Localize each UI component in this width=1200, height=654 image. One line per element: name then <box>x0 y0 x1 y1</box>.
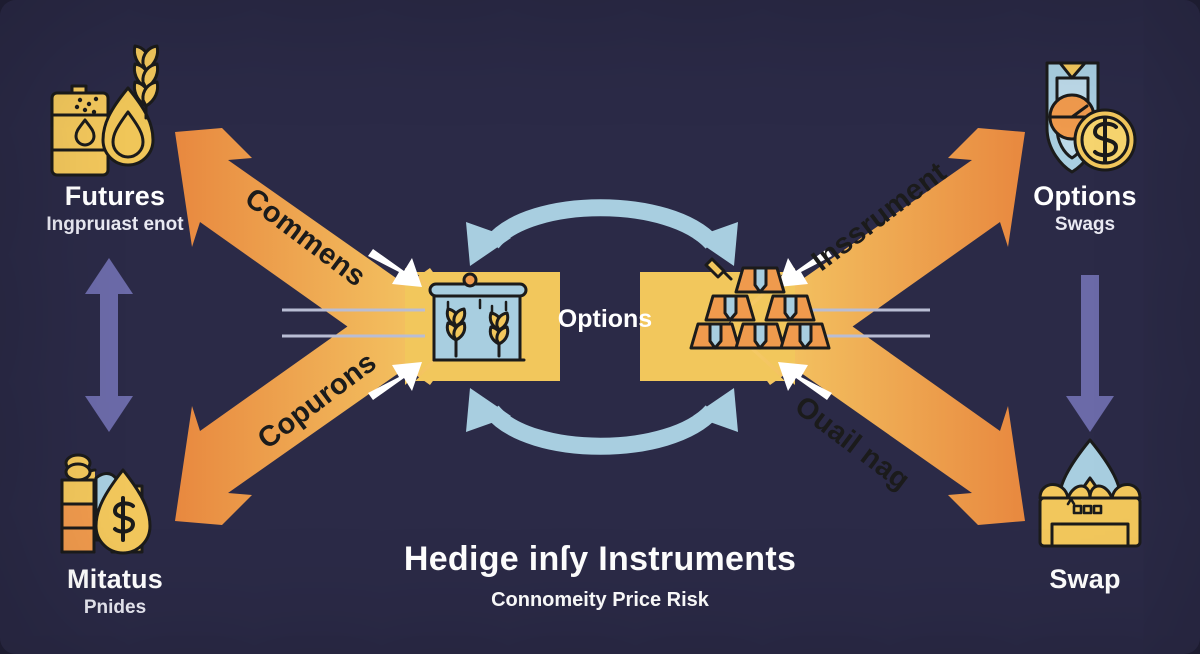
node-top-left-title: Futures <box>0 182 230 212</box>
left-vertical-arrow <box>85 258 133 432</box>
footer-subtitle: Connomeity Price Risk <box>0 589 1200 612</box>
shield-coin-icon <box>1047 63 1135 172</box>
diagram-canvas: Futures Ingpruıast enot Mitatus Pnides O… <box>0 0 1200 654</box>
oil-drum-money-droplet-icon <box>62 455 150 553</box>
node-top-left-subtitle: Ingpruıast enot <box>0 215 230 236</box>
center-label: Options <box>525 305 685 334</box>
oil-barrel-droplet-wheat-icon <box>52 46 158 175</box>
footer: Hedige inſy Instruments Connomeity Price… <box>0 540 1200 612</box>
water-droplet-crate-icon <box>1040 440 1140 546</box>
bottom-arc <box>466 388 738 446</box>
node-top-right-subtitle: Swags <box>970 215 1200 236</box>
node-top-right-title: Options <box>970 182 1200 212</box>
right-vertical-arrow <box>1066 275 1114 432</box>
top-arc <box>466 208 738 266</box>
node-top-right[interactable]: Options Swags <box>970 182 1200 236</box>
node-top-left[interactable]: Futures Ingpruıast enot <box>0 182 230 236</box>
footer-title: Hedige inſy Instruments <box>0 540 1200 579</box>
wheat-irrigation-icon <box>430 274 526 360</box>
